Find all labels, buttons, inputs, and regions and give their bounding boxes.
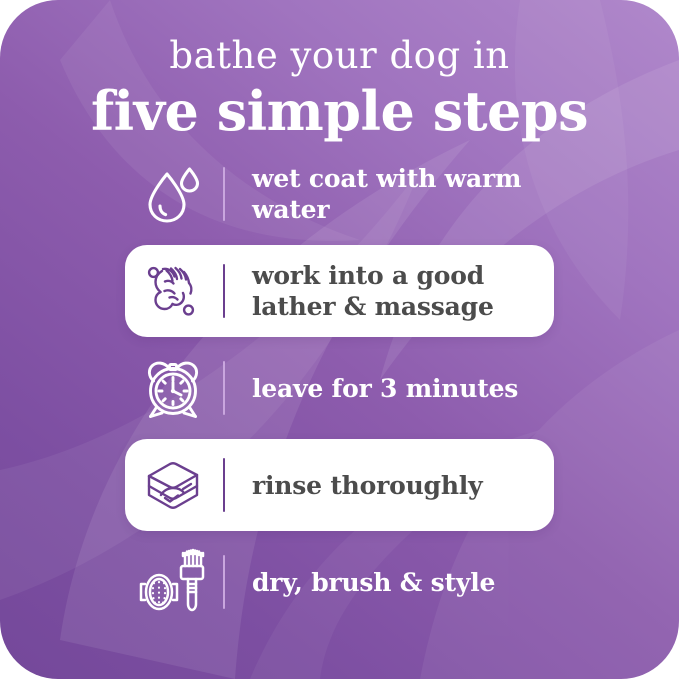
step-item-2: work into a good lather & massage	[125, 245, 554, 337]
steps-list: wet coat with warm water	[0, 148, 679, 633]
step-item-3: leave for 3 minutes	[125, 342, 554, 434]
poster-title: bathe your dog in five simple steps	[0, 34, 679, 142]
step-item-5: dry, brush & style	[125, 536, 554, 628]
alarm-clock-icon	[125, 352, 221, 424]
step-item-1: wet coat with warm water	[125, 148, 554, 240]
step-label-5: dry, brush & style	[225, 567, 554, 598]
title-line-1: bathe your dog in	[0, 34, 679, 78]
step-item-4: rinse thoroughly	[125, 439, 554, 531]
step-label-1: wet coat with warm water	[225, 163, 554, 225]
infographic-poster: bathe your dog in five simple steps wet …	[0, 0, 679, 679]
brush-comb-icon	[125, 546, 221, 618]
title-line-2: five simple steps	[0, 80, 679, 142]
step-label-4: rinse thoroughly	[225, 470, 554, 501]
hands-lather-icon	[125, 255, 221, 327]
step-label-2: work into a good lather & massage	[225, 260, 554, 322]
folded-towels-icon	[125, 449, 221, 521]
step-label-3: leave for 3 minutes	[225, 373, 554, 404]
water-drop-icon	[125, 158, 221, 230]
